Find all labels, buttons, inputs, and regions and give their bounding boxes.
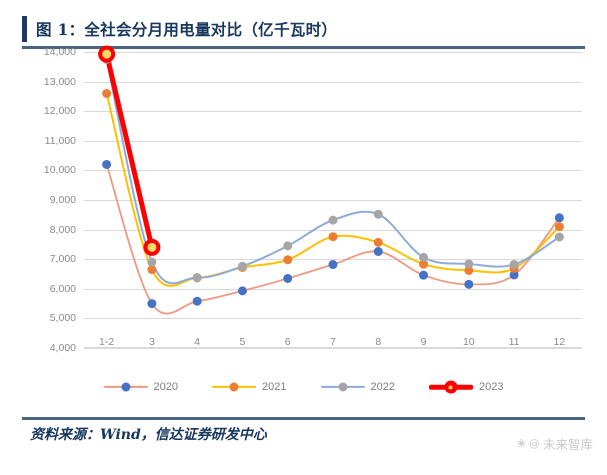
y-axis-tick: 13,000 <box>44 76 76 88</box>
chart-series-svg <box>84 52 582 348</box>
legend-item-2023[interactable]: 2023 <box>429 380 503 394</box>
y-axis-tick: 4,000 <box>50 342 76 354</box>
flower-icon: ❀ <box>517 437 526 450</box>
x-axis-tick: 10 <box>463 336 475 348</box>
legend-label: 2022 <box>371 381 395 393</box>
y-axis-tick: 9,000 <box>50 194 76 206</box>
legend-item-2021[interactable]: 2021 <box>212 380 286 394</box>
x-axis: 1-23456789101112 <box>84 336 582 358</box>
series-line-2022 <box>107 59 560 283</box>
data-point <box>193 297 202 306</box>
legend-marker-icon <box>338 383 347 392</box>
y-axis-tick: 5,000 <box>50 312 76 324</box>
y-axis-tick: 14,000 <box>44 46 76 58</box>
x-axis-tick: 4 <box>194 336 200 348</box>
data-point <box>555 233 564 242</box>
data-point <box>283 274 292 283</box>
source-note: 资料来源：Wind，信达证券研发中心 <box>30 424 267 444</box>
x-axis-tick: 5 <box>240 336 246 348</box>
watermark: ❀ @ 未来智库 <box>517 434 593 453</box>
data-point <box>100 48 113 61</box>
x-axis-tick: 9 <box>421 336 427 348</box>
legend-label: 2021 <box>262 381 286 393</box>
x-axis-tick: 7 <box>330 336 336 348</box>
y-axis-tick: 10,000 <box>44 164 76 176</box>
legend-swatch <box>321 380 365 394</box>
data-point <box>464 259 473 268</box>
data-point <box>374 238 383 247</box>
y-axis-tick: 6,000 <box>50 283 76 295</box>
chart-container: 14,00013,00012,00011,00010,0009,0008,000… <box>22 52 585 362</box>
data-point <box>329 260 338 269</box>
data-point <box>238 286 247 295</box>
data-point <box>102 160 111 169</box>
legend-marker-icon <box>230 383 239 392</box>
page-title: 图 1：全社会分月用电量对比（亿千瓦时） <box>36 18 337 40</box>
data-point <box>510 260 519 269</box>
divider-bottom <box>22 417 585 420</box>
legend-item-2022[interactable]: 2022 <box>321 380 395 394</box>
x-axis-tick: 12 <box>554 336 566 348</box>
data-point <box>419 253 428 262</box>
legend-label: 2023 <box>479 381 503 393</box>
figure-card: 图 1：全社会分月用电量对比（亿千瓦时） 14,00013,00012,0001… <box>0 0 607 475</box>
series-line-2021 <box>107 93 560 285</box>
data-point <box>283 255 292 264</box>
data-point <box>374 247 383 256</box>
data-point <box>555 222 564 231</box>
y-axis: 14,00013,00012,00011,00010,0009,0008,000… <box>22 52 80 348</box>
plot-area <box>84 52 582 348</box>
y-axis-tick: 12,000 <box>44 105 76 117</box>
x-axis-tick: 3 <box>149 336 155 348</box>
y-axis-tick: 8,000 <box>50 224 76 236</box>
legend-marker-icon <box>121 383 130 392</box>
figure-title-row: 图 1：全社会分月用电量对比（亿千瓦时） <box>22 14 585 44</box>
data-point <box>555 213 564 222</box>
data-point <box>193 273 202 282</box>
data-point <box>147 299 156 308</box>
data-point <box>374 210 383 219</box>
legend-label: 2020 <box>154 381 178 393</box>
data-point <box>238 262 247 271</box>
watermark-label: 未来智库 <box>543 434 593 453</box>
legend-item-2020[interactable]: 2020 <box>104 380 178 394</box>
x-axis-tick: 8 <box>375 336 381 348</box>
y-axis-tick: 11,000 <box>45 135 76 147</box>
legend-marker-icon <box>444 381 457 394</box>
data-point <box>419 271 428 280</box>
legend-swatch <box>429 380 473 394</box>
x-axis-tick: 6 <box>285 336 291 348</box>
chart-legend: 2020202120222023 <box>22 378 585 396</box>
title-accent-bar <box>22 16 27 42</box>
data-point <box>147 258 156 267</box>
legend-swatch <box>104 380 148 394</box>
x-axis-tick: 1-2 <box>99 336 114 348</box>
x-axis-tick: 11 <box>509 336 520 348</box>
data-point <box>283 241 292 250</box>
y-axis-tick: 7,000 <box>50 253 76 265</box>
data-point <box>329 232 338 241</box>
data-point <box>145 241 158 254</box>
at-icon: @ <box>529 437 540 450</box>
series-line-2023 <box>107 54 152 247</box>
data-point <box>102 89 111 98</box>
data-point <box>329 216 338 225</box>
legend-swatch <box>212 380 256 394</box>
data-point <box>464 280 473 289</box>
